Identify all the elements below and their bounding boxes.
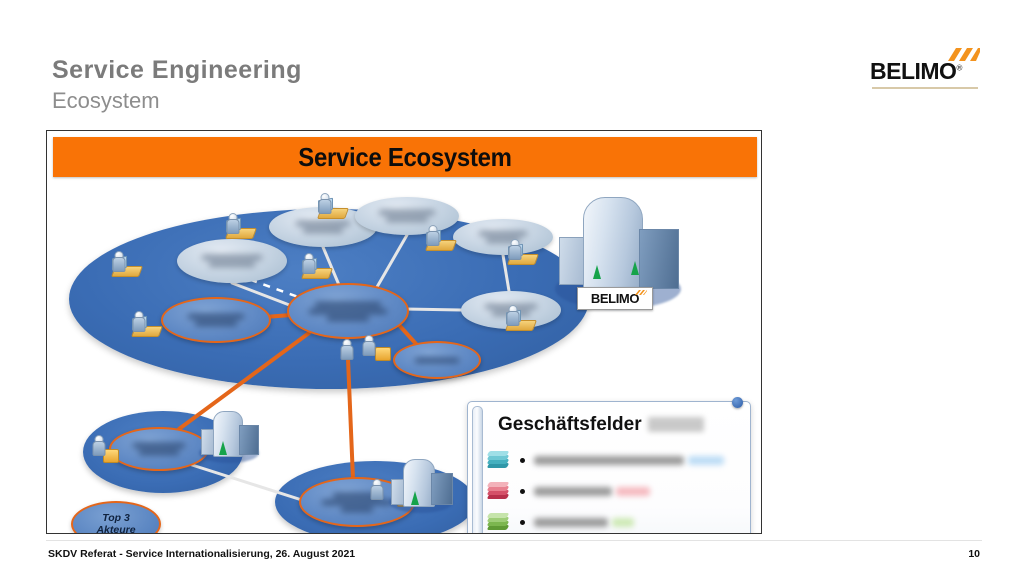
office-building-icon [199, 407, 261, 465]
stack-icon [488, 450, 514, 470]
list-item-label-redacted [534, 487, 612, 496]
belimo-building-label: BELIMO [577, 287, 653, 310]
office-building-icon [389, 455, 455, 515]
node-ellipse-highlighted[interactable] [287, 283, 409, 339]
bullet-icon [520, 520, 525, 525]
node-label-redacted [465, 224, 541, 250]
geschaeftsfelder-panel[interactable]: Geschäftsfelder [467, 401, 751, 533]
list-item[interactable] [488, 477, 738, 505]
section-banner-title: Service Ecosystem [298, 142, 511, 173]
belimo-logo: BELIMO® [870, 48, 980, 90]
node-ellipse-highlighted[interactable] [109, 427, 209, 471]
node-ellipse-highlighted[interactable] [393, 341, 481, 379]
node-ellipse[interactable] [177, 239, 287, 283]
content-frame: Service Ecosystem [46, 130, 762, 534]
list-item[interactable] [488, 446, 738, 474]
node-label-redacted [176, 305, 257, 335]
node-ellipse[interactable] [355, 197, 459, 235]
node-label-redacted [190, 245, 274, 277]
list-item-tail-redacted [616, 487, 650, 496]
logo-registered-mark: ® [956, 63, 961, 72]
legend-line-1: Top 3 [102, 512, 130, 524]
panel-item-list [488, 446, 738, 533]
node-label-redacted [314, 485, 399, 518]
node-label-redacted [303, 292, 393, 329]
ecosystem-canvas: BELIMO Top 3 Akteure [47, 179, 761, 533]
list-item-label-redacted [534, 518, 608, 527]
list-item-tail-redacted [688, 456, 724, 465]
logo-word-text: BELIMO [870, 58, 956, 84]
belimo-headquarters-building: BELIMO [553, 191, 683, 313]
footer-text: SKDV Referat - Service Internationalisie… [48, 548, 355, 560]
legend-line-2: Akteure [96, 524, 135, 533]
node-ellipse-highlighted[interactable] [161, 297, 271, 343]
stack-icon [488, 481, 514, 501]
list-item-tail-redacted [612, 518, 634, 527]
logo-underline [872, 87, 978, 89]
slide: Service Engineering Ecosystem BELIMO® Se… [0, 0, 1024, 576]
bullet-icon [520, 489, 525, 494]
footer-divider [46, 540, 982, 541]
section-banner: Service Ecosystem [53, 137, 757, 177]
logo-stripes-icon [633, 290, 647, 295]
bullet-icon [520, 458, 525, 463]
node-ellipse[interactable] [453, 219, 553, 255]
page-title: Service Engineering [52, 56, 302, 85]
logo-wordmark: BELIMO® [870, 60, 980, 83]
list-item-label-redacted [534, 456, 684, 465]
panel-scroll-edge-left [472, 406, 483, 533]
page-number: 10 [968, 548, 980, 560]
node-label-redacted [123, 435, 196, 464]
panel-title-text: Geschäftsfelder [498, 414, 642, 435]
stack-icon [488, 512, 514, 532]
panel-title: Geschäftsfelder [498, 414, 740, 436]
page-subtitle: Ecosystem [52, 88, 160, 114]
node-label-redacted [405, 348, 469, 373]
list-item[interactable] [488, 508, 738, 533]
belimo-building-label-text: BELIMO [591, 291, 639, 306]
panel-title-redacted [648, 417, 704, 432]
panel-pin-icon[interactable] [732, 397, 743, 408]
